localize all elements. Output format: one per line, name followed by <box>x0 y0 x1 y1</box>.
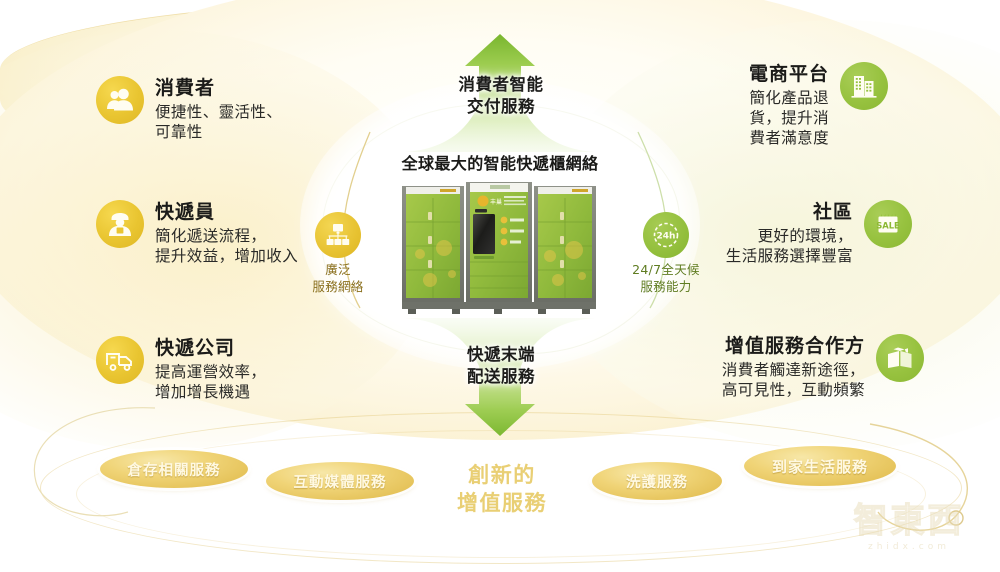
users-icon <box>96 76 144 124</box>
card-express-company[interactable]: 快遞公司 提高運營效率， 增加增長機遇 <box>96 336 356 403</box>
pill-laundry-services[interactable]: 洗護服務 <box>592 462 722 500</box>
card-ecommerce-platform-text: 電商平台 簡化產品退 貨，提升消 費者滿意度 <box>749 62 829 149</box>
card-consumer-text: 消費者 便捷性、靈活性、 可靠性 <box>155 76 282 143</box>
card-community-title: 社區 <box>726 200 853 224</box>
pill-home-life-services[interactable]: 到家生活服務 <box>744 446 896 486</box>
card-value-added-partner[interactable]: 增值服務合作方 消費者觸達新途徑， 高可見性，互動頻繁 <box>634 334 924 401</box>
pill-storage-services[interactable]: 倉存相關服務 <box>100 450 248 488</box>
buildings-icon <box>840 62 888 110</box>
watermark-url: zhidx.com <box>834 542 984 552</box>
card-community[interactable]: SALE 社區 更好的環境， 生活服務選擇豐富 <box>662 200 912 267</box>
card-ecommerce-platform-title: 電商平台 <box>749 62 829 86</box>
watermark: 智東西 zhidx.com <box>834 504 984 562</box>
card-courier[interactable]: 快遞員 簡化遞送流程， 提升效益，增加收入 <box>96 200 356 267</box>
card-express-company-text: 快遞公司 提高運營效率， 增加增長機遇 <box>155 336 266 403</box>
delivery-truck-icon <box>96 336 144 384</box>
card-courier-desc: 簡化遞送流程， 提升效益，增加收入 <box>155 227 298 267</box>
card-value-added-partner-text: 增值服務合作方 消費者觸達新途徑， 高可見性，互動頻繁 <box>722 334 865 401</box>
node-service-network-caption: 廣泛 服務網絡 <box>295 262 381 296</box>
cabinet-title: 全球最大的智能快遞櫃網絡 <box>330 150 670 174</box>
pill-interactive-media-services[interactable]: 互動媒體服務 <box>266 462 414 500</box>
card-community-desc: 更好的環境， 生活服務選擇豐富 <box>726 227 853 267</box>
infographic-canvas: 消費者智能 交付服務 快遞末端 配送服務 全球最大的智能快遞櫃網絡 <box>0 0 1000 572</box>
card-ecommerce-platform-desc: 簡化產品退 貨，提升消 費者滿意度 <box>749 89 829 148</box>
card-consumer-title: 消費者 <box>155 76 282 100</box>
card-express-company-title: 快遞公司 <box>155 336 266 360</box>
node-247-caption: 24/7全天候 服務能力 <box>623 262 709 296</box>
open-box-icon <box>876 334 924 382</box>
card-community-text: 社區 更好的環境， 生活服務選擇豐富 <box>726 200 853 267</box>
card-express-company-desc: 提高運營效率， 增加增長機遇 <box>155 363 266 403</box>
svg-text:丰巢: 丰巢 <box>490 198 502 206</box>
card-courier-title: 快遞員 <box>155 200 298 224</box>
card-value-added-partner-desc: 消費者觸達新途徑， 高可見性，互動頻繁 <box>722 361 865 401</box>
card-ecommerce-platform[interactable]: 電商平台 簡化產品退 貨，提升消 費者滿意度 <box>638 62 888 149</box>
card-consumer-desc: 便捷性、靈活性、 可靠性 <box>155 103 282 143</box>
arrow-top-label: 消費者智能 交付服務 <box>408 74 594 118</box>
arrow-bottom-label: 快遞末端 配送服務 <box>408 344 594 388</box>
card-consumer[interactable]: 消費者 便捷性、靈活性、 可靠性 <box>96 76 356 143</box>
card-courier-text: 快遞員 簡化遞送流程， 提升效益，增加收入 <box>155 200 298 267</box>
courier-person-icon <box>96 200 144 248</box>
svg-text:SALE: SALE <box>876 221 900 231</box>
watermark-logo-text: 智東西 <box>834 504 984 538</box>
bottom-section-title: 創新的 增值服務 <box>412 462 592 517</box>
sale-tag-icon: SALE <box>864 200 912 248</box>
card-value-added-partner-title: 增值服務合作方 <box>722 334 865 358</box>
smart-locker-cabinet-illustration: 丰巢 <box>400 176 598 316</box>
